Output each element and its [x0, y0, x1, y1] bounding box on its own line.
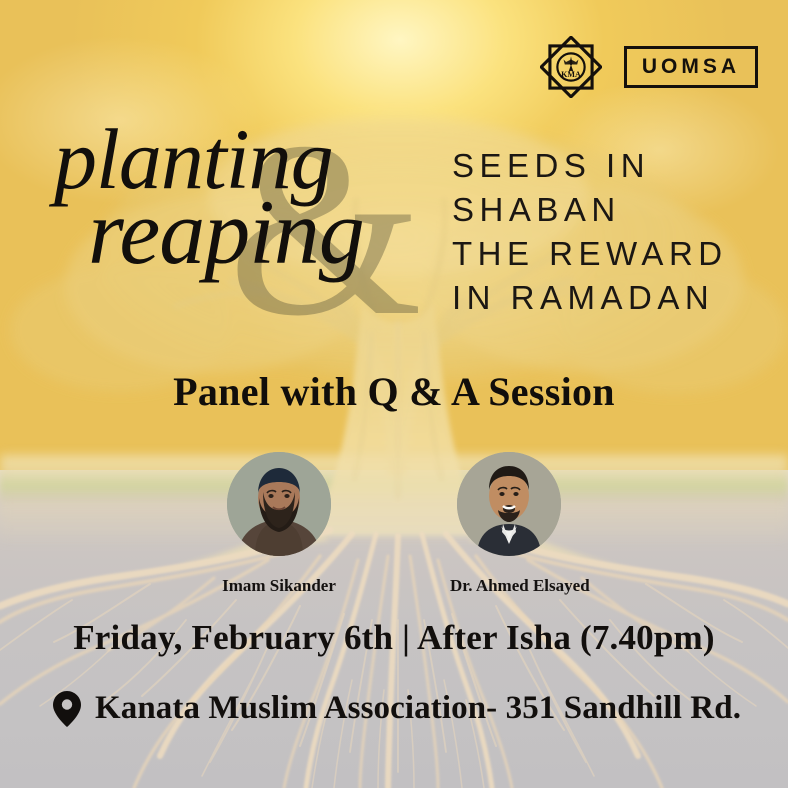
- map-pin-icon: [53, 691, 81, 727]
- kma-logo[interactable]: KMA: [540, 36, 602, 98]
- script-title: planting reaping: [46, 122, 466, 273]
- event-venue-row: Kanata Muslim Association- 351 Sandhill …: [0, 690, 788, 727]
- subtitle-text: SEEDS IN SHABAN THE REWARD IN RAMADAN: [452, 144, 728, 320]
- title-block: & planting reaping SEEDS IN SHABAN THE R…: [0, 122, 788, 332]
- speaker-photo-imam-sikander: [227, 452, 331, 556]
- speaker-imam-sikander: Imam Sikander: [220, 452, 338, 596]
- portrait-bearded-man-kufi-icon: [227, 452, 331, 556]
- kma-logo-text: KMA: [561, 70, 581, 79]
- speaker-name-imam-sikander: Imam Sikander: [220, 576, 338, 596]
- speaker-dr-ahmed-elsayed: Dr. Ahmed Elsayed: [450, 452, 568, 596]
- speaker-photo-dr-ahmed-elsayed: [457, 452, 561, 556]
- speaker-name-dr-ahmed-elsayed: Dr. Ahmed Elsayed: [450, 576, 568, 596]
- event-datetime: Friday, February 6th | After Isha (7.40p…: [0, 618, 788, 658]
- uomsa-logo-text: UOMSA: [642, 56, 740, 77]
- uomsa-logo[interactable]: UOMSA: [624, 46, 758, 88]
- panel-heading: Panel with Q & A Session: [0, 368, 788, 415]
- header-logos: KMA UOMSA: [540, 36, 758, 98]
- portrait-man-suit-icon: [457, 452, 561, 556]
- speakers-list: Imam Sikander: [0, 452, 788, 596]
- event-poster: KMA UOMSA & planting reaping SEEDS IN SH…: [0, 0, 788, 788]
- octagram-star-logo-icon: KMA: [540, 36, 602, 98]
- title-line-reaping: reaping: [88, 192, 466, 273]
- event-venue-text: Kanata Muslim Association- 351 Sandhill …: [95, 690, 741, 727]
